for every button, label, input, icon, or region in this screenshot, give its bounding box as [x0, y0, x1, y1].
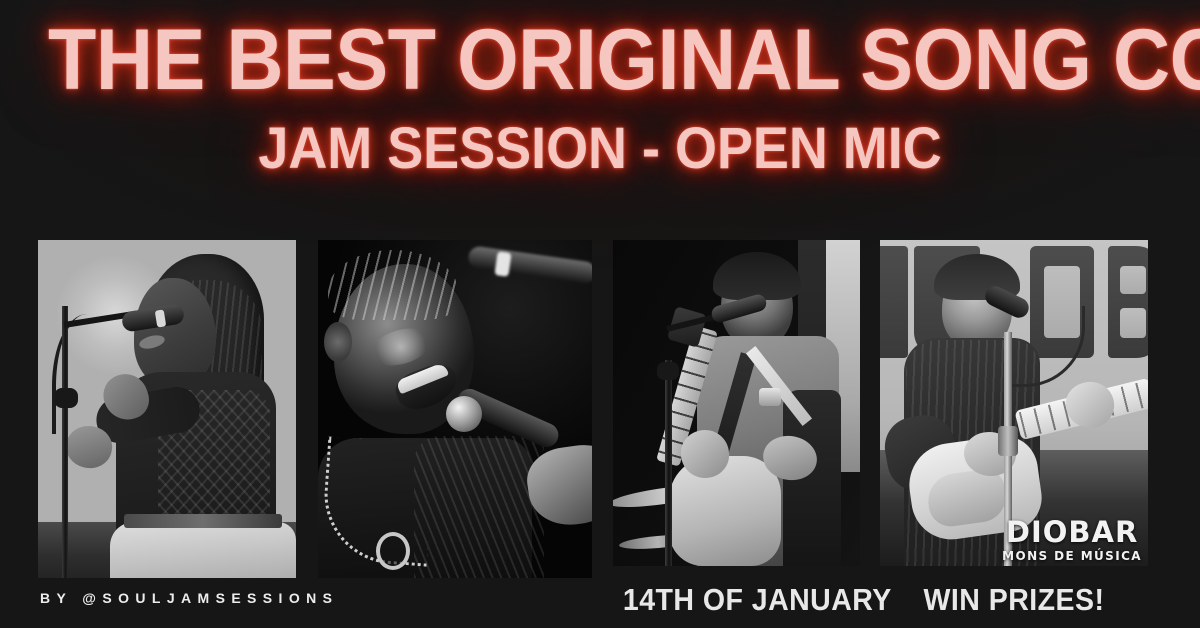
- watermark-tagline: MONS DE MÚSICA: [1002, 550, 1142, 562]
- photo-1-artwork: [38, 240, 296, 578]
- photo-vocalist-braids: [38, 240, 296, 578]
- photo-vocalist-handheld-mic: [318, 240, 592, 578]
- photo-guitarist-singer: [613, 240, 860, 566]
- caption-prizes: WIN PRIZES!: [891, 584, 1138, 615]
- caption-date: 14TH OF JANUARY: [623, 584, 850, 615]
- page-subtitle: JAM SESSION - OPEN MIC: [42, 120, 1158, 178]
- headline-block: THE BEST ORIGINAL SONG CONTEST JAM SESSI…: [0, 18, 1200, 178]
- page-title: THE BEST ORIGINAL SONG CONTEST: [48, 18, 1152, 102]
- photo-guitarist-white-strat: DIOBAR MONS DE MÚSICA: [880, 240, 1148, 566]
- event-poster: THE BEST ORIGINAL SONG CONTEST JAM SESSI…: [0, 0, 1200, 628]
- byline-credit: BY @SOULJAMSESSIONS: [40, 590, 338, 606]
- photo-2-artwork: [318, 240, 592, 578]
- diobar-watermark: DIOBAR MONS DE MÚSICA: [1002, 518, 1142, 562]
- watermark-brand: DIOBAR: [1002, 518, 1142, 547]
- photo-3-artwork: [613, 240, 860, 566]
